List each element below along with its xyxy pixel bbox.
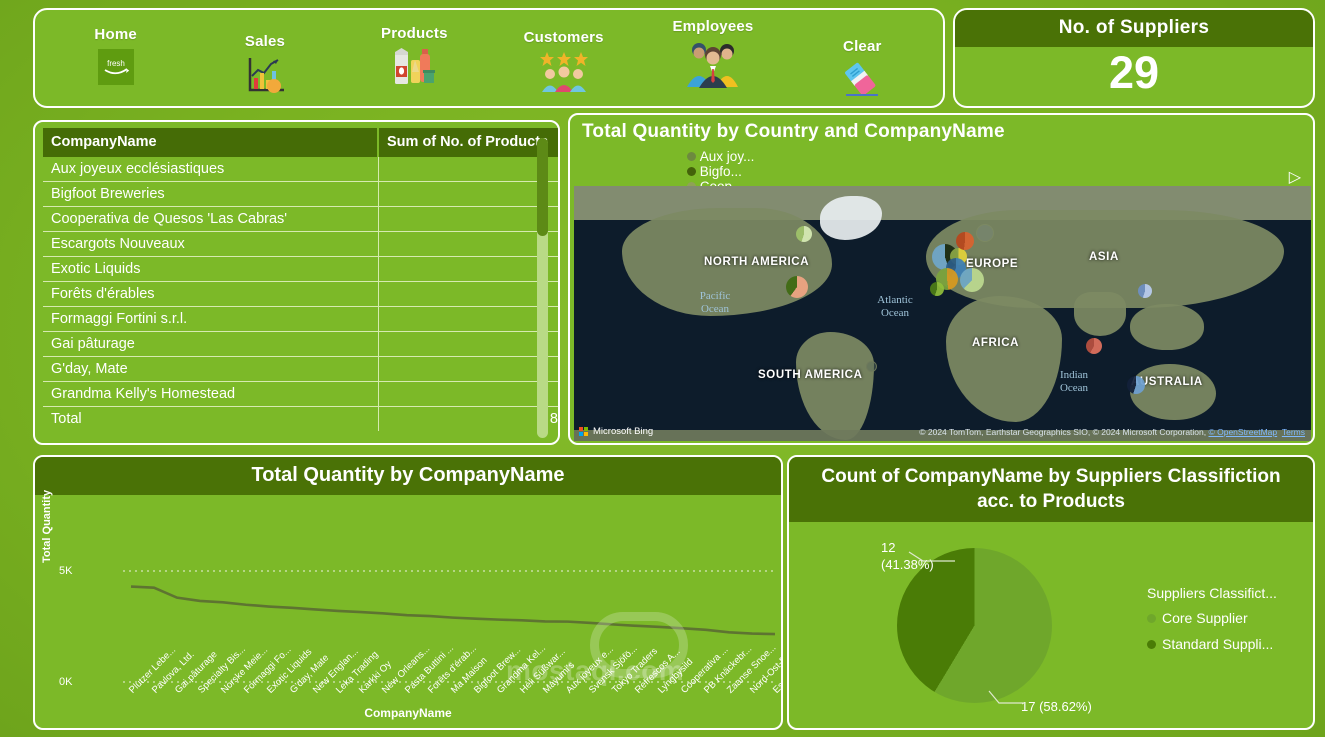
kpi-value: 29 [955,47,1313,99]
customers-stars-icon [535,50,593,99]
nav-label-customers: Customers [524,29,604,46]
nav-label-home: Home [94,26,136,43]
top-navigation-bar: Home fresh Sales [33,8,945,108]
map-label-atlantic-ocean: AtlanticOcean [858,294,932,320]
cell-products: 3 [378,382,560,407]
microsoft-squares-icon [579,427,589,437]
table-row[interactable]: Grandma Kelly's Homestead3 [43,382,560,407]
map-label-indian-ocean: IndianOcean [1044,369,1104,395]
amazon-fresh-logo-icon: fresh [96,47,136,92]
landmass-greenland [820,196,882,240]
map-panel: Total Quantity by Country and CompanyNam… [568,113,1315,445]
column-header-sum-products[interactable]: Sum of No. of Products [378,128,560,157]
map-bubble[interactable] [1138,284,1152,298]
cell-companyname: Grandma Kelly's Homestead [43,382,378,407]
table-row[interactable]: Bigfoot Breweries3 [43,182,560,207]
cell-products: 3 [378,357,560,382]
table-row[interactable]: G'day, Mate3 [43,357,560,382]
map-legend-item[interactable]: Bigfo... [687,164,755,179]
attribution-text: © 2024 TomTom, Earthstar Geographics SIO… [919,427,1206,437]
table-scrollbar[interactable] [537,138,548,438]
line-chart-x-axis-label: CompanyName [35,706,781,720]
employees-group-icon [682,39,744,94]
cell-companyname: Cooperativa de Quesos 'Las Cabras' [43,207,378,232]
cell-products: 1 [378,232,560,257]
column-header-companyname[interactable]: CompanyName [43,128,378,157]
kpi-title: No. of Suppliers [955,10,1313,47]
pie-leader-line-core [987,689,1029,713]
map-bubble[interactable] [1086,338,1102,354]
table-row[interactable]: Escargots Nouveaux1 [43,232,560,257]
cell-products: 3 [378,257,560,282]
landmass-africa [946,296,1062,422]
map-bubble[interactable] [960,268,984,292]
openstreetmap-link[interactable]: © OpenStreetMap [1208,427,1277,437]
cell-companyname: Aux joyeux ecclésiastiques [43,157,378,182]
line-chart-panel: Total Quantity by CompanyName Total Quan… [33,455,783,730]
map-legend-label: Bigfo... [700,164,742,179]
cell-products: 2 [378,282,560,307]
table-row[interactable]: Exotic Liquids3 [43,257,560,282]
table-row[interactable]: Forêts d'érables2 [43,282,560,307]
map-label-pacific-ocean: PacificOcean [680,290,750,316]
pie-leader-line-standard [907,549,957,571]
bar-line-chart-icon [244,54,286,101]
line-chart-title: Total Quantity by CompanyName [35,457,781,495]
map-bubble[interactable] [956,232,974,250]
bing-map-canvas[interactable]: NORTH AMERICA SOUTH AMERICA EUROPE AFRIC… [574,186,1311,441]
landmass-india [1074,292,1126,336]
landmass-southeast-asia [1130,304,1204,350]
bing-provider-label: Microsoft Bing [593,426,653,437]
landmass-australia [1130,364,1216,420]
nav-item-home[interactable]: Home fresh [41,12,190,102]
map-bubble[interactable] [796,226,812,242]
table-row[interactable]: Gai pâturage2 [43,332,560,357]
table-row[interactable]: Formaggi Fortini s.r.l.4 [43,307,560,332]
nav-label-products: Products [381,25,448,42]
map-legend-label: Aux joy... [700,149,755,164]
svg-text:fresh: fresh [107,59,125,68]
pie-legend-item-core[interactable]: Core Supplier [1147,610,1277,626]
table-row[interactable]: Aux joyeux ecclésiastiques2 [43,157,560,182]
nav-label-clear: Clear [843,38,882,55]
nav-label-sales: Sales [245,33,285,50]
company-products-table: CompanyName Sum of No. of Products Aux j… [43,128,560,431]
terms-link[interactable]: Terms [1282,427,1305,437]
nav-item-clear[interactable]: Clear [788,12,937,102]
pie-legend-swatch-core [1147,614,1156,623]
table-body: Aux joyeux ecclésiastiques2Bigfoot Brewe… [43,157,560,431]
map-legend-swatch [687,167,696,176]
nav-item-employees[interactable]: Employees [638,12,787,102]
map-attribution: © 2024 TomTom, Earthstar Geographics SIO… [919,427,1305,437]
table-total-row: Total86 [43,407,560,432]
cell-companyname: G'day, Mate [43,357,378,382]
microsoft-bing-logo: Microsoft Bing [579,426,653,437]
cell-companyname: Gai pâturage [43,332,378,357]
line-chart-body: Total Quantity 5K 0K Plutzer Lebe...Pavl… [35,501,781,728]
cell-products: 2 [378,207,560,232]
pie-legend-swatch-standard [1147,640,1156,649]
grocery-products-icon [390,46,438,95]
map-legend-swatch [687,152,696,161]
cell-companyname: Bigfoot Breweries [43,182,378,207]
cell-companyname: Escargots Nouveaux [43,232,378,257]
cell-products: 3 [378,182,560,207]
chevron-right-icon[interactable]: ▷ [1289,167,1301,187]
map-label-africa: AFRICA [972,337,1019,349]
nav-item-customers[interactable]: Customers [489,12,638,102]
pie-callout-core: 17 (58.62%) [1021,698,1092,715]
map-bubble[interactable] [786,276,808,298]
pie-legend-title: Suppliers Classifict... [1147,585,1277,601]
landmass-south-america [796,332,874,440]
map-legend-item[interactable]: Aux joy... [687,149,755,164]
cell-companyname: Formaggi Fortini s.r.l. [43,307,378,332]
table-row[interactable]: Cooperativa de Quesos 'Las Cabras'2 [43,207,560,232]
table-scrollbar-thumb[interactable] [537,138,548,236]
pie-legend-label-core: Core Supplier [1162,610,1248,626]
pie-legend-label-standard: Standard Suppli... [1162,636,1273,652]
nav-item-products[interactable]: Products [340,12,489,102]
cell-products: 4 [378,307,560,332]
map-title: Total Quantity by Country and CompanyNam… [570,115,1313,145]
pie-chart-panel: Count of CompanyName by Suppliers Classi… [787,455,1315,730]
nav-item-sales[interactable]: Sales [190,12,339,102]
pie-legend-item-standard[interactable]: Standard Suppli... [1147,636,1277,652]
map-bubble[interactable] [930,282,944,296]
cell-companyname: Forêts d'érables [43,282,378,307]
pie-chart-title: Count of CompanyName by Suppliers Classi… [789,457,1313,522]
total-label: Total [43,407,378,432]
map-label-asia: ASIA [1089,251,1119,263]
map-label-south-america: SOUTH AMERICA [758,369,862,381]
map-bubble[interactable] [866,361,877,372]
table-header-row: CompanyName Sum of No. of Products [43,128,560,157]
map-bubble[interactable] [976,224,994,242]
pie-chart-legend: Suppliers Classifict... Core Supplier St… [1147,585,1277,662]
map-label-north-america: NORTH AMERICA [704,256,809,268]
map-bubble[interactable] [1127,376,1145,394]
company-products-table-panel: CompanyName Sum of No. of Products Aux j… [33,120,560,445]
cell-companyname: Exotic Liquids [43,257,378,282]
total-value: 86 [378,407,560,432]
cell-products: 2 [378,332,560,357]
kpi-card-suppliers: No. of Suppliers 29 [953,8,1315,108]
line-chart-svg [35,501,783,730]
cell-products: 2 [378,157,560,182]
eraser-icon [840,59,884,104]
nav-label-employees: Employees [672,18,753,35]
